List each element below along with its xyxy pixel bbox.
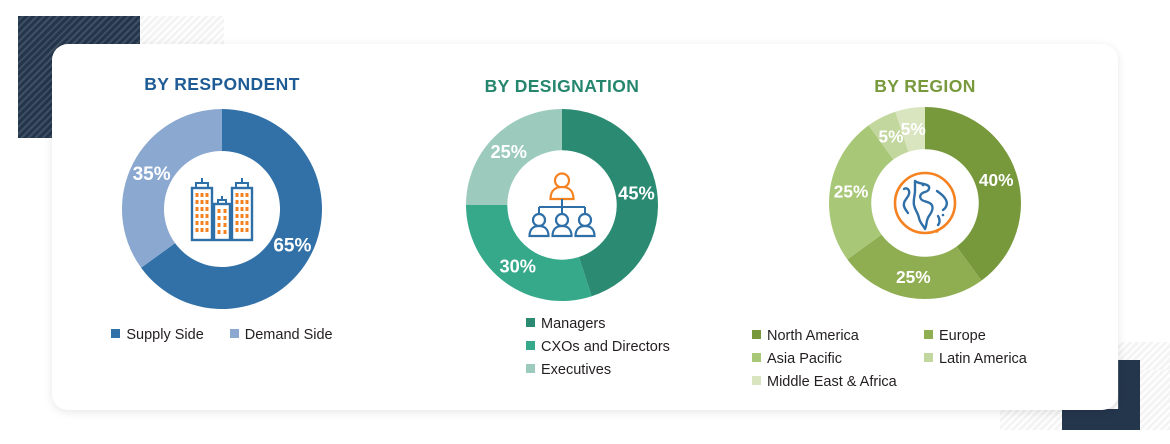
legend-swatch <box>526 364 535 373</box>
donut-slice-label: 45% <box>618 183 655 204</box>
chart-title-region: BY REGION <box>732 76 1118 97</box>
donut-slice-label: 5% <box>901 119 926 139</box>
legend-swatch <box>752 376 761 385</box>
legend-item-label: Supply Side <box>126 327 203 343</box>
legend-swatch <box>924 330 933 339</box>
legend-item-label: Executives <box>541 362 611 378</box>
legend-item-label: Middle East & Africa <box>767 374 897 390</box>
legend-item[interactable]: Middle East & Africa <box>752 374 924 390</box>
legend-region: North AmericaEuropeAsia PacificLatin Ame… <box>732 328 1118 390</box>
buildings-icon <box>184 172 260 246</box>
legend-item-label: Demand Side <box>245 327 333 343</box>
legend-item[interactable]: Managers <box>526 316 732 332</box>
legend-list-designation: ManagersCXOs and DirectorsExecutives <box>526 316 732 378</box>
donut-slice-label: 5% <box>879 126 904 146</box>
chart-panel-designation: BY DESIGNATION 45%30%25% <box>392 44 732 410</box>
legend-item-label: Asia Pacific <box>767 351 842 367</box>
legend-swatch <box>111 329 120 338</box>
legend-item[interactable]: Supply Side <box>111 327 203 343</box>
legend-swatch <box>924 353 933 362</box>
legend-item[interactable]: North America <box>752 328 924 344</box>
legend-item-label: North America <box>767 328 859 344</box>
donut-chart-respondent: 65%35% <box>122 109 322 309</box>
legend-item-label: Latin America <box>939 351 1027 367</box>
legend-item[interactable]: Asia Pacific <box>752 351 924 367</box>
donut-chart-region: 40%25%25%5%5% <box>829 107 1021 299</box>
chart-panel-region: BY REGION 40%25%25%5%5% <box>732 44 1118 410</box>
chart-panel-respondent: BY RESPONDENT 65%35% <box>52 44 392 410</box>
legend-item[interactable]: Latin America <box>924 351 1118 367</box>
donut-chart-designation: 45%30%25% <box>466 109 658 301</box>
globe-icon <box>885 163 965 243</box>
legend-row-respondent: Supply SideDemand Side <box>52 327 392 343</box>
donut-slice-label: 25% <box>896 267 931 287</box>
donut-slice-label: 25% <box>490 141 527 162</box>
chart-title-respondent: BY RESPONDENT <box>52 74 392 95</box>
legend-swatch <box>230 329 239 338</box>
legend-item[interactable]: Executives <box>526 362 732 378</box>
legend-item-label: Europe <box>939 328 986 344</box>
legend-item-label: Managers <box>541 316 605 332</box>
legend-item[interactable]: CXOs and Directors <box>526 339 732 355</box>
legend-item[interactable]: Demand Side <box>230 327 333 343</box>
legend-item-label: CXOs and Directors <box>541 339 670 355</box>
donut-slice-label: 65% <box>273 236 311 257</box>
org-chart-people-icon <box>524 170 600 240</box>
donut-slice-label: 25% <box>834 181 869 201</box>
donut-slice-label: 35% <box>133 164 171 185</box>
legend-swatch <box>752 353 761 362</box>
donut-slice-label: 40% <box>979 170 1014 190</box>
legend-respondent: Supply SideDemand Side <box>52 327 392 343</box>
legend-item[interactable]: Europe <box>924 328 1118 344</box>
legend-swatch <box>526 318 535 327</box>
legend-swatch <box>752 330 761 339</box>
charts-card: BY RESPONDENT 65%35% <box>52 44 1118 410</box>
donut-slice-label: 30% <box>499 255 536 276</box>
legend-grid-region: North AmericaEuropeAsia PacificLatin Ame… <box>752 328 1118 390</box>
legend-swatch <box>526 341 535 350</box>
chart-title-designation: BY DESIGNATION <box>392 76 732 97</box>
legend-designation: ManagersCXOs and DirectorsExecutives <box>392 316 732 385</box>
